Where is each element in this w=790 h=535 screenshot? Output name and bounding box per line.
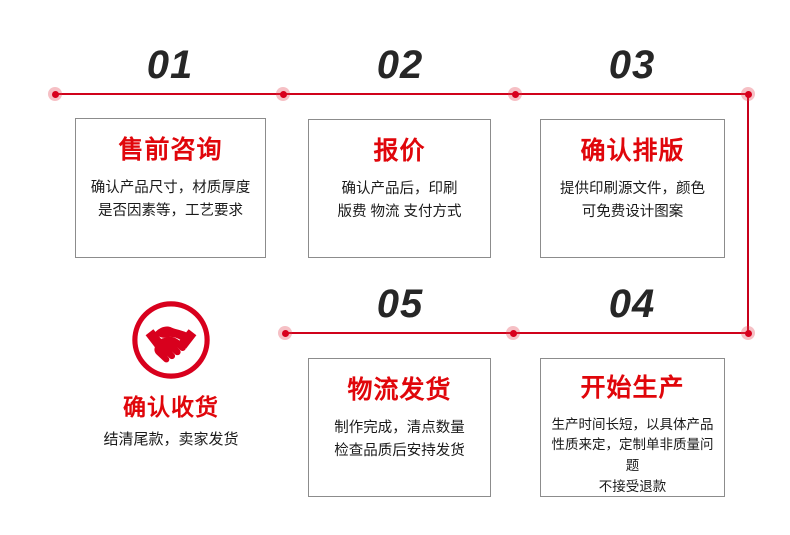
step-card-03-body: 提供印刷源文件，颜色可免费设计图案 [554,178,711,224]
final-step-subtitle: 结清尾款，卖家发货 [103,429,238,450]
connector-dot-top-4 [741,87,755,101]
connector-dot-bottom-3 [741,326,755,340]
step-card-02-title: 报价 [373,138,425,166]
step-number-05: 05 [360,284,440,324]
step-card-01-title: 售前咨询 [118,137,222,165]
step-card-05-title: 物流发货 [347,377,451,405]
connector-dot-top-2 [276,87,290,101]
step-card-02-body: 确认产品后，印刷版费 物流 支付方式 [331,178,467,224]
step-number-03: 03 [592,45,672,85]
flow-diagram-canvas: 01 02 03 05 04 售前咨询 确认产品尺寸，材质厚度是否因素等，工艺要… [0,0,790,535]
connector-dot-bottom-2 [506,326,520,340]
step-card-04[interactable]: 开始生产 生产时间长短，以具体产品性质来定，定制单非质量问题不接受退款 [540,358,725,497]
right-connector-line [747,94,749,334]
top-connector-line [55,93,749,95]
handshake-icon [128,297,214,383]
step-card-03-title: 确认排版 [580,138,684,166]
step-card-05[interactable]: 物流发货 制作完成，清点数量检查品质后安持发货 [308,358,491,497]
connector-dot-top-3 [508,87,522,101]
step-card-03[interactable]: 确认排版 提供印刷源文件，颜色可免费设计图案 [540,119,725,258]
connector-dot-top-1 [48,87,62,101]
step-card-01[interactable]: 售前咨询 确认产品尺寸，材质厚度是否因素等，工艺要求 [75,118,266,258]
step-card-04-body: 生产时间长短，以具体产品性质来定，定制单非质量问题不接受退款 [541,415,724,499]
final-step-block[interactable]: 确认收货 结清尾款，卖家发货 [66,297,276,450]
step-card-02[interactable]: 报价 确认产品后，印刷版费 物流 支付方式 [308,119,491,258]
step-number-04: 04 [592,284,672,324]
connector-dot-bottom-1 [278,326,292,340]
step-card-04-title: 开始生产 [580,375,684,403]
step-card-05-body: 制作完成，清点数量检查品质后安持发货 [328,417,471,463]
step-number-02: 02 [360,45,440,85]
final-step-title: 确认收货 [123,395,219,420]
step-card-01-body: 确认产品尺寸，材质厚度是否因素等，工艺要求 [85,177,257,223]
step-number-01: 01 [130,45,210,85]
